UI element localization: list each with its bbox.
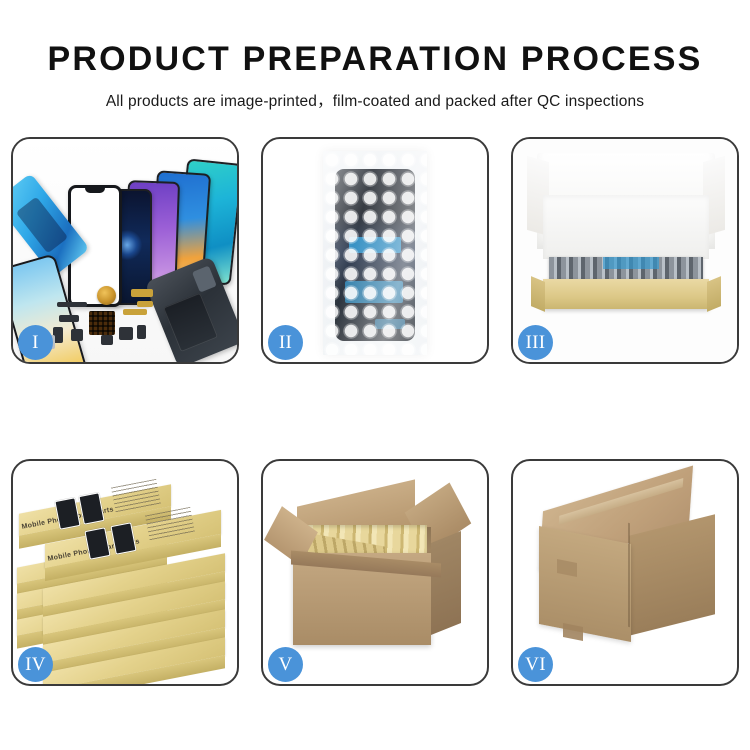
copper-coil-icon bbox=[97, 286, 116, 305]
page-subtitle: All products are image-printed，film-coat… bbox=[0, 80, 750, 111]
phone-notch-icon bbox=[85, 188, 105, 193]
ribbon-cable-icon bbox=[123, 309, 147, 315]
vibrator-icon bbox=[119, 327, 133, 340]
foam-liner-icon bbox=[543, 195, 709, 259]
plastic-sheen-overlay bbox=[323, 151, 427, 355]
button-part-icon bbox=[137, 325, 146, 339]
speaker-mesh-icon bbox=[57, 302, 87, 307]
page-title: PRODUCT PREPARATION PROCESS bbox=[0, 0, 750, 80]
stacked-box-front-4 bbox=[43, 655, 225, 673]
process-step-panel-1: I bbox=[11, 137, 239, 364]
grid-chip-icon bbox=[89, 311, 115, 335]
process-step-panel-4: Mobile Phone Spare Parts Mobile Phone Sp… bbox=[11, 459, 239, 686]
step-number-badge-1: I bbox=[18, 325, 53, 360]
box-stack-icon: Mobile Phone Spare Parts Mobile Phone Sp… bbox=[15, 471, 237, 671]
flex-cable-icon bbox=[131, 289, 153, 297]
step-number-badge-4: IV bbox=[18, 647, 53, 682]
step-number-badge-6: VI bbox=[518, 647, 553, 682]
camera-module-icon bbox=[71, 329, 83, 341]
step-number-badge-5: V bbox=[268, 647, 303, 682]
carton-side-icon bbox=[431, 531, 461, 635]
connector-icon bbox=[59, 315, 79, 322]
sealed-carton-right-icon bbox=[629, 514, 715, 635]
sealed-carton-front-icon bbox=[539, 526, 631, 642]
screw-set-icon bbox=[101, 335, 113, 345]
page-header: PRODUCT PREPARATION PROCESS All products… bbox=[0, 0, 750, 111]
process-step-panel-2: II bbox=[261, 137, 489, 364]
carton-tab-lower-icon bbox=[563, 623, 583, 641]
process-step-panel-6: VI bbox=[511, 459, 739, 686]
blue-film-accent bbox=[603, 257, 659, 269]
mailer-box-base-icon bbox=[543, 279, 709, 309]
flex-cable-small-icon bbox=[137, 301, 153, 307]
step-number-badge-2: II bbox=[268, 325, 303, 360]
process-step-panel-5: V bbox=[261, 459, 489, 686]
product-preparation-infographic: PRODUCT PREPARATION PROCESS All products… bbox=[0, 0, 750, 750]
step-number-badge-3: III bbox=[518, 325, 553, 360]
process-step-panel-3: III bbox=[511, 137, 739, 364]
carton-corner-edge bbox=[628, 523, 630, 627]
process-step-grid: I II bbox=[11, 137, 739, 686]
